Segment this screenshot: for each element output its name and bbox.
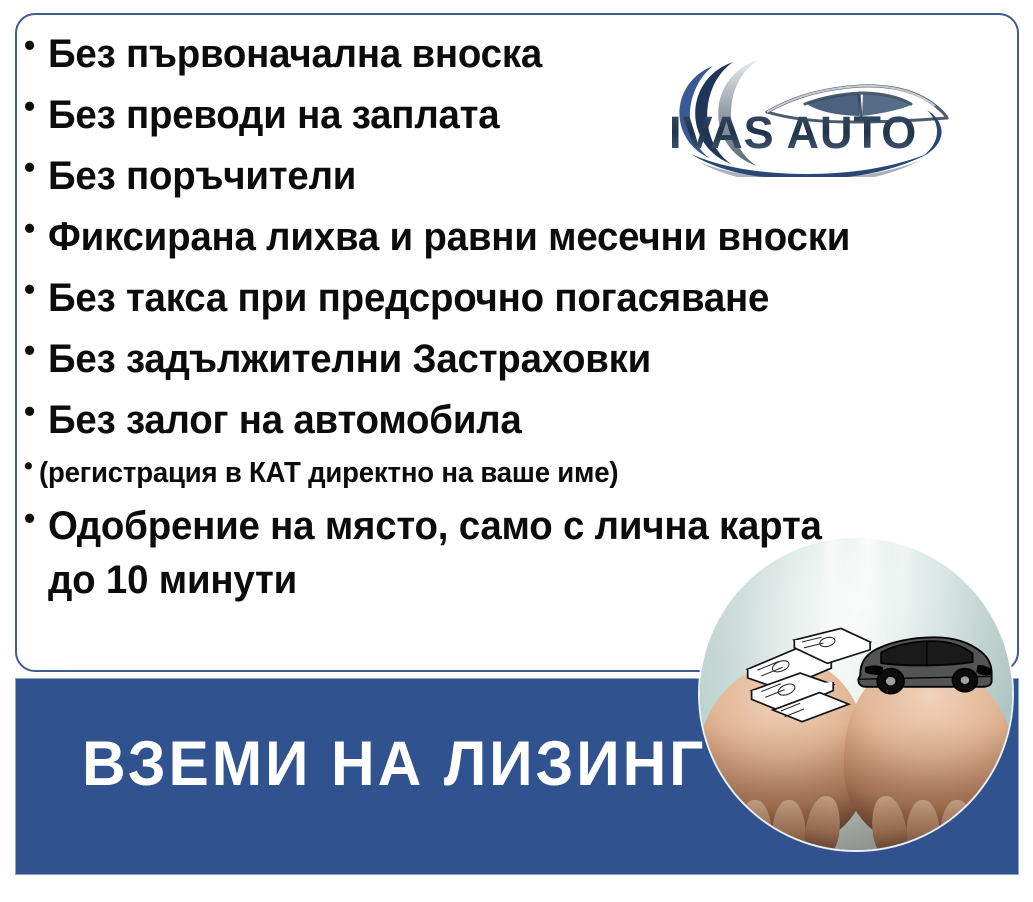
bullet-dot-icon: • — [24, 331, 48, 366]
leasing-flyer-poster: • Без първоначална вноска • Без преводи … — [0, 0, 1033, 902]
bullet-dot-icon: • — [24, 26, 48, 61]
list-item-label: Фиксирана лихва и равни месечни вноски — [48, 209, 961, 265]
bullet-dot-icon: • — [24, 270, 48, 305]
list-item-note: • (регистрация в КАТ директно на ваше им… — [24, 453, 999, 493]
bullet-dot-icon: • — [24, 148, 48, 183]
list-item-label: (регистрация в КАТ директно на ваше име) — [39, 453, 951, 493]
list-item-label: Без задължителни Застраховки — [48, 331, 961, 387]
list-item: • Без задължителни Застраховки — [24, 331, 999, 387]
list-item-label: Без такса при предсрочно погасяване — [48, 270, 961, 326]
photo-shadow — [700, 725, 1012, 850]
cta-banner-label: ВЗЕМИ НА ЛИЗИНГ — [82, 729, 706, 799]
ivas-auto-car-swoosh-icon: IVAS AUTO — [655, 52, 975, 177]
logo-wordmark: IVAS AUTO — [669, 107, 917, 158]
bullet-dot-icon: • — [24, 209, 48, 244]
bullet-dot-icon: • — [24, 499, 48, 534]
list-item: • Без такса при предсрочно погасяване — [24, 270, 999, 326]
list-item: • Без залог на автомобила — [24, 392, 999, 448]
list-item-label: Без залог на автомобила — [48, 392, 961, 448]
list-item: • Фиксирана лихва и равни месечни вноски — [24, 209, 999, 265]
hands-holding-money-and-car-photo — [700, 538, 1012, 850]
ivas-auto-logo: IVAS AUTO — [655, 52, 975, 177]
bullet-dot-icon: • — [24, 392, 48, 427]
bullet-dot-icon: • — [24, 453, 39, 479]
car-sketch-icon — [852, 624, 996, 704]
bullet-dot-icon: • — [24, 87, 48, 122]
